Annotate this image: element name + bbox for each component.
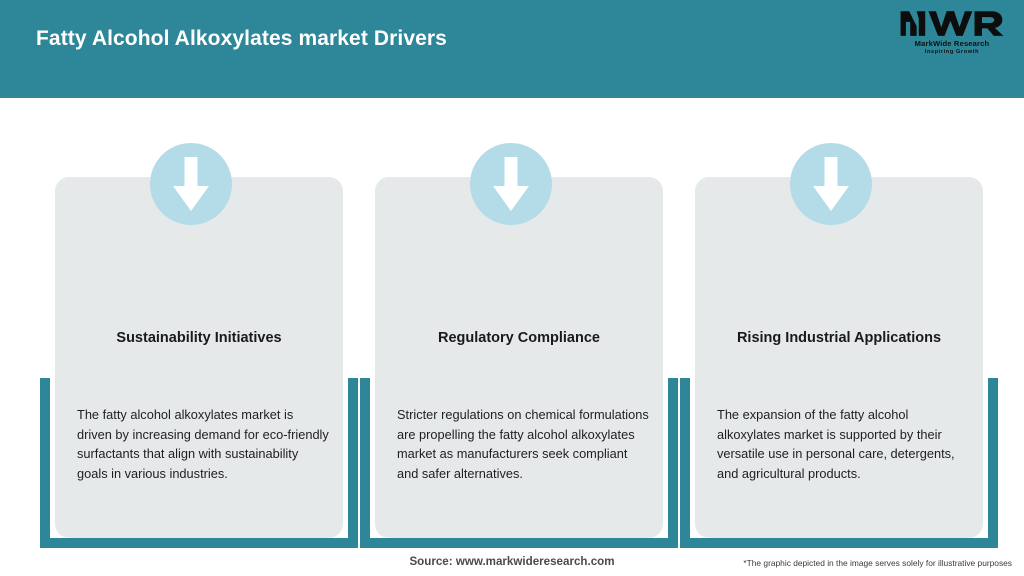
card-body-text: The fatty alcohol alkoxylates market is … (77, 405, 329, 483)
card-title: Sustainability Initiatives (67, 329, 331, 347)
driver-card-3: Rising Industrial Applications The expan… (680, 98, 998, 576)
page-title: Fatty Alcohol Alkoxylates market Drivers (36, 27, 447, 51)
card-title: Regulatory Compliance (387, 329, 651, 347)
card-icon-circle (470, 143, 552, 225)
card-panel: Regulatory Compliance Stricter regulatio… (375, 177, 663, 538)
down-arrow-icon (812, 157, 850, 212)
illustrative-disclaimer: *The graphic depicted in the image serve… (743, 558, 1012, 568)
card-panel: Rising Industrial Applications The expan… (695, 177, 983, 538)
card-body-text: The expansion of the fatty alcohol alkox… (717, 405, 969, 483)
page-header: Fatty Alcohol Alkoxylates market Drivers… (0, 0, 1024, 98)
card-icon-circle (790, 143, 872, 225)
drivers-card-stage: Sustainability Initiatives The fatty alc… (0, 98, 1024, 576)
card-body-text: Stricter regulations on chemical formula… (397, 405, 649, 483)
logo-tagline: Inspiring Growth (898, 48, 1006, 56)
markwide-research-logo: MarkWide Research Inspiring Growth (898, 8, 1006, 60)
card-panel: Sustainability Initiatives The fatty alc… (55, 177, 343, 538)
card-title: Rising Industrial Applications (707, 329, 971, 347)
mwr-logomark-icon (898, 8, 1006, 38)
logo-company-name: MarkWide Research (898, 39, 1006, 48)
card-icon-circle (150, 143, 232, 225)
down-arrow-icon (492, 157, 530, 212)
down-arrow-icon (172, 157, 210, 212)
driver-card-1: Sustainability Initiatives The fatty alc… (40, 98, 358, 576)
driver-card-2: Regulatory Compliance Stricter regulatio… (360, 98, 678, 576)
